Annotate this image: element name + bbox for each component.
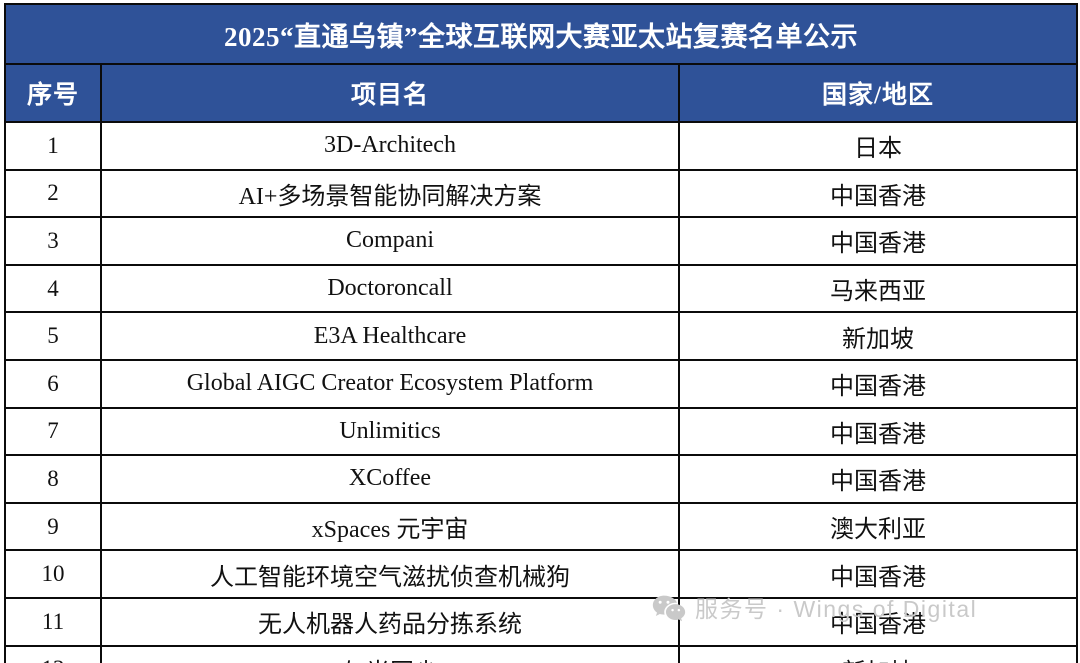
column-header-index: 序号 [5, 64, 101, 122]
cell-project: XCoffee [101, 455, 679, 503]
page-title: 2025“直通乌镇”全球互联网大赛亚太站复赛名单公示 [5, 4, 1077, 64]
cell-region: 中国香港 [679, 170, 1077, 218]
cell-index: 8 [5, 455, 101, 503]
cell-index: 12 [5, 646, 101, 663]
table-row: 9 xSpaces 元宇宙 澳大利亚 [5, 503, 1077, 551]
cell-index: 1 [5, 122, 101, 170]
cell-project: Unlimitics [101, 408, 679, 456]
cell-index: 7 [5, 408, 101, 456]
table-row: 8 XCoffee 中国香港 [5, 455, 1077, 503]
cell-region: 中国香港 [679, 455, 1077, 503]
cell-index: 6 [5, 360, 101, 408]
cell-index: 3 [5, 217, 101, 265]
cell-index: 2 [5, 170, 101, 218]
table-row: 7 Unlimitics 中国香港 [5, 408, 1077, 456]
table-row: 1 3D-Architech 日本 [5, 122, 1077, 170]
cell-region: 新加坡 [679, 646, 1077, 663]
column-header-project: 项目名 [101, 64, 679, 122]
cell-index: 11 [5, 598, 101, 646]
cell-project: xSpaces 元宇宙 [101, 503, 679, 551]
cell-project: E3A Healthcare [101, 312, 679, 360]
cell-index: 9 [5, 503, 101, 551]
table-row: 4 Doctoroncall 马来西亚 [5, 265, 1077, 313]
table-row: 12 与光同尘 新加坡 [5, 646, 1077, 663]
announcement-page: 服务号 · Wings of Digital 2025“直通乌镇”全球互联网大赛… [0, 0, 1080, 663]
cell-region: 中国香港 [679, 408, 1077, 456]
cell-region: 日本 [679, 122, 1077, 170]
cell-index: 5 [5, 312, 101, 360]
cell-project: AI+多场景智能协同解决方案 [101, 170, 679, 218]
cell-project: 无人机器人药品分拣系统 [101, 598, 679, 646]
shortlist-table: 2025“直通乌镇”全球互联网大赛亚太站复赛名单公示 序号 项目名 国家/地区 … [4, 3, 1078, 663]
cell-project: Compani [101, 217, 679, 265]
table-title-row: 2025“直通乌镇”全球互联网大赛亚太站复赛名单公示 [5, 4, 1077, 64]
table-row: 6 Global AIGC Creator Ecosystem Platform… [5, 360, 1077, 408]
cell-region: 马来西亚 [679, 265, 1077, 313]
table-row: 3 Compani 中国香港 [5, 217, 1077, 265]
cell-index: 4 [5, 265, 101, 313]
table-header-row: 序号 项目名 国家/地区 [5, 64, 1077, 122]
cell-region: 澳大利亚 [679, 503, 1077, 551]
cell-region: 中国香港 [679, 598, 1077, 646]
cell-region: 中国香港 [679, 217, 1077, 265]
cell-project: 人工智能环境空气滋扰侦查机械狗 [101, 550, 679, 598]
cell-project: Global AIGC Creator Ecosystem Platform [101, 360, 679, 408]
cell-project: 3D-Architech [101, 122, 679, 170]
cell-region: 中国香港 [679, 360, 1077, 408]
cell-index: 10 [5, 550, 101, 598]
table-row: 5 E3A Healthcare 新加坡 [5, 312, 1077, 360]
table-body: 1 3D-Architech 日本 2 AI+多场景智能协同解决方案 中国香港 … [5, 122, 1077, 663]
cell-project: 与光同尘 [101, 646, 679, 663]
cell-project: Doctoroncall [101, 265, 679, 313]
table-row: 11 无人机器人药品分拣系统 中国香港 [5, 598, 1077, 646]
cell-region: 中国香港 [679, 550, 1077, 598]
table-row: 10 人工智能环境空气滋扰侦查机械狗 中国香港 [5, 550, 1077, 598]
table-row: 2 AI+多场景智能协同解决方案 中国香港 [5, 170, 1077, 218]
listing-table-container: 2025“直通乌镇”全球互联网大赛亚太站复赛名单公示 序号 项目名 国家/地区 … [4, 3, 1076, 663]
cell-region: 新加坡 [679, 312, 1077, 360]
column-header-region: 国家/地区 [679, 64, 1077, 122]
